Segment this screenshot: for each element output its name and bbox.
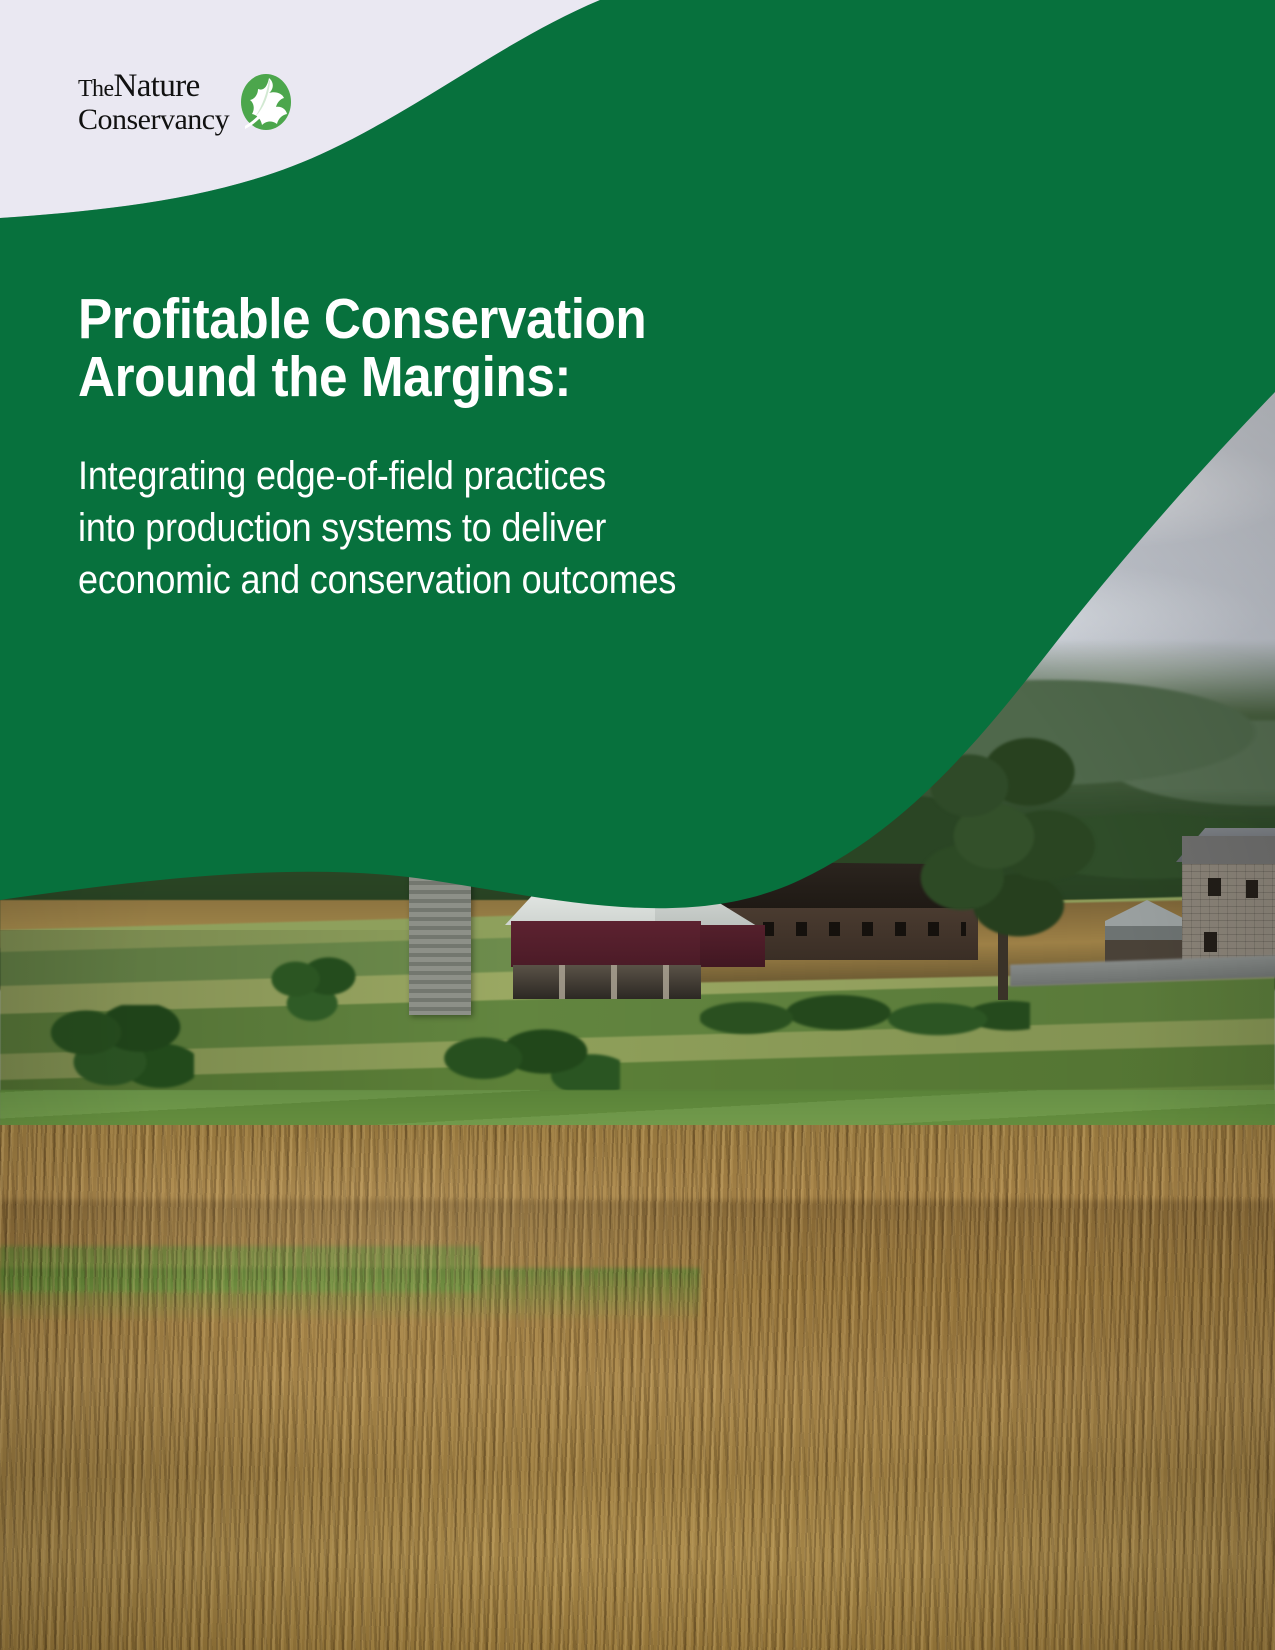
globe-oak-leaf-icon <box>239 72 293 132</box>
photo-vignette <box>0 0 1275 1650</box>
cover-text-block: Profitable Conservation Around the Margi… <box>78 290 838 606</box>
wordmark-line-2: Conservancy <box>78 105 229 135</box>
tnc-wordmark: TheNature Conservancy <box>78 70 229 135</box>
report-cover-page: TheNature Conservancy Profitable Conserv… <box>0 0 1275 1650</box>
wordmark-nature: Nature <box>114 68 200 104</box>
cover-photograph <box>0 0 1275 1650</box>
page-subtitle: Integrating edge-of-field practices into… <box>78 450 762 606</box>
tnc-logo[interactable]: TheNature Conservancy <box>78 66 310 138</box>
wordmark-the: The <box>78 76 114 102</box>
page-title: Profitable Conservation Around the Margi… <box>78 290 762 406</box>
wordmark-line-1: TheNature <box>78 70 229 103</box>
